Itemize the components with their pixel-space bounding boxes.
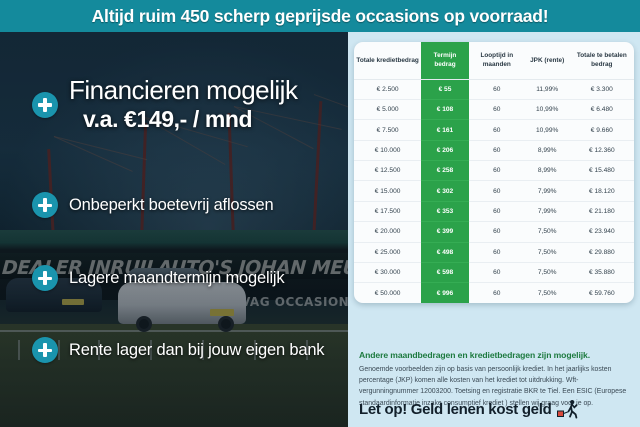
column-header-totale-te-betalen: Totale te betalen bedrag [570, 42, 634, 79]
banner-text: Altijd ruim 450 scherp geprijsde occasio… [92, 6, 549, 27]
table-cell: € 7.500 [354, 120, 421, 140]
table-cell: 7,99% [525, 201, 570, 221]
table-cell: € 10.000 [354, 140, 421, 160]
headline-stack: Financieren mogelijk v.a. €149,- / mnd [69, 76, 297, 134]
table-cell: € 598 [421, 262, 469, 282]
table-cell: 60 [469, 161, 525, 181]
promo-bullet-label: Lagere maandtermijn mogelijk [69, 269, 284, 288]
table-cell: € 30.000 [354, 262, 421, 282]
table-cell: € 12.500 [354, 161, 421, 181]
column-header-looptijd: Looptijd in maanden [469, 42, 525, 79]
table-cell: 7,50% [525, 262, 570, 282]
headline-primary: Financieren mogelijk [69, 76, 297, 105]
loan-table-card: Totale kredietbedrag Termijn bedrag Loop… [354, 42, 634, 303]
table-cell: € 498 [421, 242, 469, 262]
headline-secondary: v.a. €149,- / mnd [69, 105, 297, 134]
table-row: € 50.000€ 996607,50%€ 59.760 [354, 283, 634, 303]
table-cell: € 399 [421, 222, 469, 242]
table-cell: 8,99% [525, 140, 570, 160]
table-cell: € 15.000 [354, 181, 421, 201]
table-row: € 10.000€ 206608,99%€ 12.360 [354, 140, 634, 160]
table-cell: € 18.120 [570, 181, 634, 201]
table-cell: € 55 [421, 79, 469, 99]
table-row: € 25.000€ 498607,50%€ 29.880 [354, 242, 634, 262]
promo-copy: Financieren mogelijk v.a. €149,- / mnd O… [0, 32, 348, 427]
table-cell: € 20.000 [354, 222, 421, 242]
table-row: € 2.500€ 556011,99%€ 3.300 [354, 79, 634, 99]
table-cell: 60 [469, 222, 525, 242]
table-cell: € 35.880 [570, 262, 634, 282]
table-cell: 60 [469, 242, 525, 262]
finance-info-panel: Totale kredietbedrag Termijn bedrag Loop… [348, 32, 640, 427]
column-header-totale-kredietbedrag: Totale kredietbedrag [354, 42, 421, 79]
table-cell: € 258 [421, 161, 469, 181]
man-pulling-block-icon [557, 399, 579, 419]
table-cell: € 3.300 [570, 79, 634, 99]
table-cell: € 17.500 [354, 201, 421, 221]
table-cell: € 50.000 [354, 283, 421, 303]
table-cell: 60 [469, 79, 525, 99]
table-cell: € 5.000 [354, 99, 421, 119]
table-cell: € 353 [421, 201, 469, 221]
table-cell: 60 [469, 283, 525, 303]
table-cell: 60 [469, 140, 525, 160]
table-header-row: Totale kredietbedrag Termijn bedrag Loop… [354, 42, 634, 79]
plus-icon [32, 92, 58, 118]
loan-table: Totale kredietbedrag Termijn bedrag Loop… [354, 42, 634, 303]
promo-bullet-label: Rente lager dan bij jouw eigen bank [69, 341, 324, 360]
table-row: € 12.500€ 258608,99%€ 15.480 [354, 161, 634, 181]
table-cell: 8,99% [525, 161, 570, 181]
table-cell: 11,99% [525, 79, 570, 99]
table-cell: 7,50% [525, 283, 570, 303]
warning-bar: Let op! Geld lenen kost geld [348, 391, 640, 427]
table-cell: € 25.000 [354, 242, 421, 262]
note-title: Andere maandbedragen en kredietbedragen … [359, 350, 631, 360]
table-cell: € 59.760 [570, 283, 634, 303]
promo-bullet-1: Onbeperkt boetevrij aflossen [32, 192, 273, 218]
table-row: € 15.000€ 302607,99%€ 18.120 [354, 181, 634, 201]
plus-icon [32, 337, 58, 363]
top-banner: Altijd ruim 450 scherp geprijsde occasio… [0, 0, 640, 32]
table-row: € 20.000€ 399607,50%€ 23.940 [354, 222, 634, 242]
table-cell: € 206 [421, 140, 469, 160]
table-cell: € 108 [421, 99, 469, 119]
promo-bullet-2: Lagere maandtermijn mogelijk [32, 265, 284, 291]
loan-table-body: € 2.500€ 556011,99%€ 3.300€ 5.000€ 10860… [354, 79, 634, 303]
table-cell: 60 [469, 120, 525, 140]
table-cell: € 2.500 [354, 79, 421, 99]
table-cell: € 15.480 [570, 161, 634, 181]
plus-icon [32, 265, 58, 291]
table-cell: 7,99% [525, 181, 570, 201]
table-cell: 60 [469, 201, 525, 221]
table-row: € 5.000€ 1086010,99%€ 6.480 [354, 99, 634, 119]
table-cell: 60 [469, 262, 525, 282]
warning-text: Let op! Geld lenen kost geld [359, 401, 551, 418]
table-cell: € 996 [421, 283, 469, 303]
column-header-jpk: JPK (rente) [525, 42, 570, 79]
table-cell: € 23.940 [570, 222, 634, 242]
table-cell: 7,50% [525, 222, 570, 242]
promo-bullet-3: Rente lager dan bij jouw eigen bank [32, 337, 324, 363]
table-cell: 60 [469, 99, 525, 119]
table-cell: 10,99% [525, 99, 570, 119]
table-cell: 10,99% [525, 120, 570, 140]
table-cell: 60 [469, 181, 525, 201]
table-cell: € 302 [421, 181, 469, 201]
table-row: € 30.000€ 598607,50%€ 35.880 [354, 262, 634, 282]
table-cell: 7,50% [525, 242, 570, 262]
table-cell: € 29.880 [570, 242, 634, 262]
table-row: € 17.500€ 353607,99%€ 21.180 [354, 201, 634, 221]
table-cell: € 6.480 [570, 99, 634, 119]
table-cell: € 21.180 [570, 201, 634, 221]
table-cell: € 12.360 [570, 140, 634, 160]
table-cell: € 9.660 [570, 120, 634, 140]
table-cell: € 161 [421, 120, 469, 140]
plus-icon [32, 192, 58, 218]
promo-bullet-label: Onbeperkt boetevrij aflossen [69, 196, 273, 215]
headline-block: Financieren mogelijk v.a. €149,- / mnd [32, 76, 297, 134]
table-row: € 7.500€ 1616010,99%€ 9.660 [354, 120, 634, 140]
promo-panel: DEALER INRUILAUTO'S JOHAN MEURE ALTIJD 4… [0, 32, 348, 427]
column-header-termijn-bedrag: Termijn bedrag [421, 42, 469, 79]
